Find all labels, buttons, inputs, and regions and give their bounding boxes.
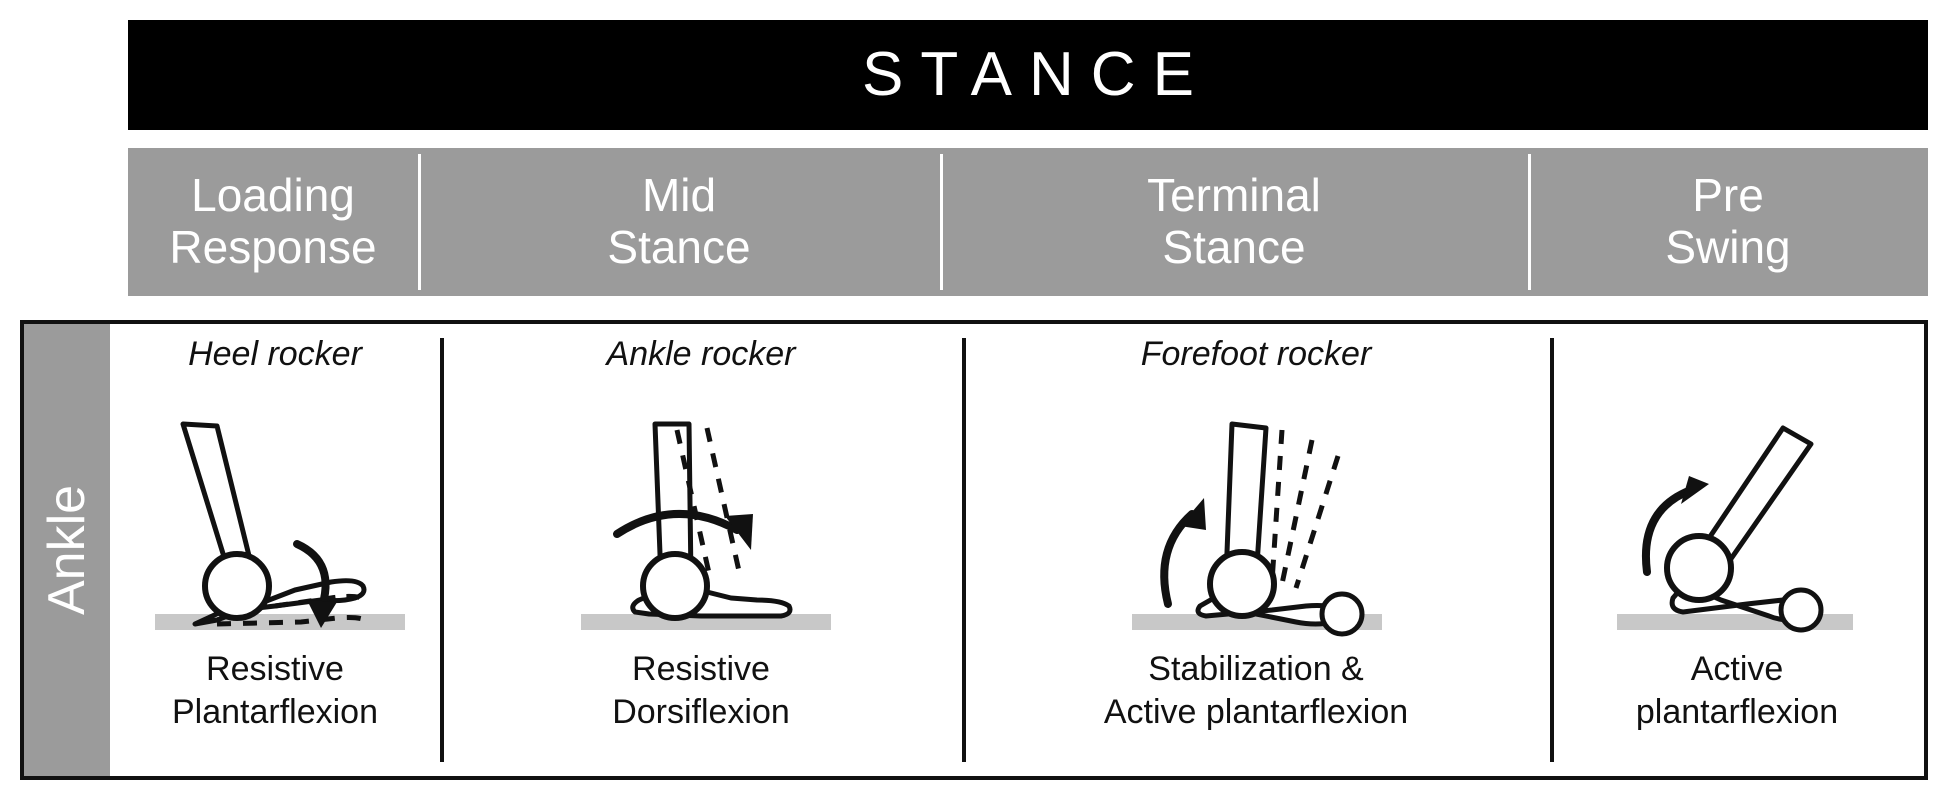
rocker-label: Forefoot rocker (1141, 332, 1372, 376)
panel-caption: Resistive Dorsiflexion (612, 648, 790, 733)
phase-label-line2: Swing (1665, 222, 1790, 274)
caption-line1: Resistive (612, 648, 790, 691)
ankle-rocker-svg (551, 384, 851, 644)
row-label-ankle: Ankle (24, 324, 110, 776)
ankle-rocker-diagram (551, 376, 851, 644)
row-label-ankle-text: Ankle (41, 485, 93, 615)
panel-terminal-stance: Forefoot rocker (962, 324, 1550, 776)
phase-label-line2: Response (169, 222, 376, 274)
rotation-arrow-head (1681, 476, 1709, 504)
rocker-label: Heel rocker (188, 332, 362, 376)
panel-caption: Stabilization & Active plantarflexion (1104, 648, 1408, 733)
phase-cell-terminal-stance: Terminal Stance (940, 148, 1528, 296)
toe-joint-circle (1322, 594, 1362, 634)
shank-dashed-right (707, 428, 741, 580)
phase-cell-mid-stance: Mid Stance (418, 148, 940, 296)
caption-line1: Resistive (172, 648, 378, 691)
ankle-joint-circle (1210, 552, 1274, 616)
pre-swing-svg (1587, 384, 1887, 644)
rotation-arrow-head (1180, 498, 1206, 530)
ankle-joint-circle (643, 554, 707, 618)
rotation-arrow-arc (1164, 514, 1192, 604)
caption-line2: Active plantarflexion (1104, 691, 1408, 734)
forefoot-rocker-svg (1096, 384, 1416, 644)
panel-caption: Resistive Plantarflexion (172, 648, 378, 733)
panel-caption: Active plantarflexion (1636, 648, 1838, 733)
phase-label-line1: Pre (1692, 170, 1764, 222)
forefoot-rocker-diagram (1096, 376, 1416, 644)
phase-label-line2: Stance (1162, 222, 1305, 274)
ankle-row-frame: Ankle Heel rocker (20, 320, 1928, 780)
toe-joint-circle (1781, 590, 1821, 630)
panel-loading-response: Heel rocker (110, 324, 440, 776)
panel-mid-stance: Ankle rocker (440, 324, 962, 776)
caption-line2: Plantarflexion (172, 691, 378, 734)
caption-line2: Dorsiflexion (612, 691, 790, 734)
heel-rocker-diagram (125, 376, 425, 644)
phase-label-line1: Terminal (1147, 170, 1321, 222)
caption-line1: Stabilization & (1104, 648, 1408, 691)
phase-cell-loading-response: Loading Response (128, 148, 418, 296)
phase-cell-pre-swing: Pre Swing (1528, 148, 1928, 296)
stance-phase-figure: STANCE Loading Response Mid Stance Termi… (0, 0, 1948, 806)
pre-swing-diagram (1587, 376, 1887, 644)
caption-line2: plantarflexion (1636, 691, 1838, 734)
heel-rocker-svg (125, 384, 425, 644)
phase-label-line2: Stance (607, 222, 750, 274)
phase-header-row: Loading Response Mid Stance Terminal Sta… (128, 148, 1928, 296)
caption-line1: Active (1636, 648, 1838, 691)
phase-label-line1: Loading (191, 170, 355, 222)
shank-dashed-b (1282, 440, 1312, 584)
ankle-joint-circle (205, 554, 269, 618)
stance-banner-title: STANCE (845, 44, 1211, 106)
rocker-label: Ankle rocker (607, 332, 796, 376)
ankle-joint-circle (1667, 536, 1731, 600)
stance-banner: STANCE (128, 20, 1928, 130)
panel-pre-swing: Active plantarflexion (1550, 324, 1924, 776)
shank-dashed-a (1272, 430, 1282, 582)
phase-label-line1: Mid (642, 170, 716, 222)
ankle-panels: Heel rocker (110, 324, 1924, 776)
